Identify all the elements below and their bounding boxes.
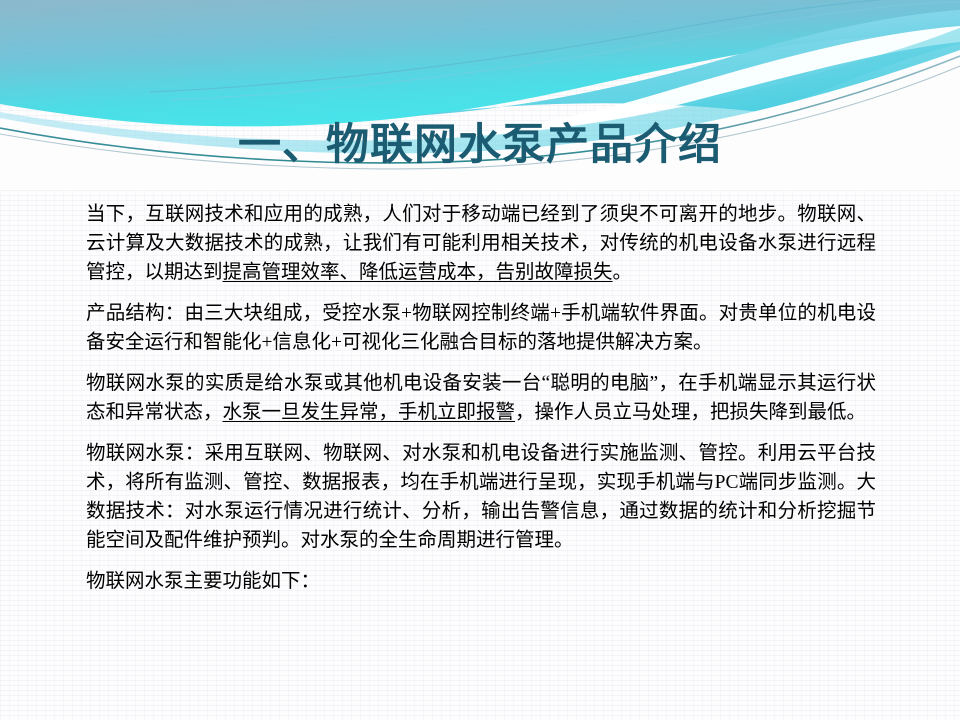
- body-paragraph-2: 产品结构：由三大块组成，受控水泵+物联网控制终端+手机端软件界面。对贵单位的机电…: [86, 299, 876, 357]
- slide-body: 当下，互联网技术和应用的成熟，人们对于移动端已经到了须臾不可离开的地步。物联网、…: [86, 200, 876, 596]
- body-paragraph-4: 物联网水泵：采用互联网、物联网、对水泵和机电设备进行实施监测、管控。利用云平台技…: [86, 439, 876, 555]
- text-segment: 产品结构：由三大块组成，受控水泵+物联网控制终端+手机端软件界面。对贵单位的机电…: [86, 303, 876, 353]
- body-paragraph-1: 当下，互联网技术和应用的成熟，人们对于移动端已经到了须臾不可离开的地步。物联网、…: [86, 200, 876, 287]
- body-paragraph-3: 物联网水泵的实质是给水泵或其他机电设备安装一台“聪明的电脑”，在手机端显示其运行…: [86, 369, 876, 427]
- text-segment: ，操作人员立马处理，把损失降到最低。: [515, 402, 866, 423]
- body-paragraph-5: 物联网水泵主要功能如下：: [86, 567, 876, 596]
- text-segment: 物联网水泵：采用互联网、物联网、对水泵和机电设备进行实施监测、管控。利用云平台技…: [86, 443, 876, 551]
- text-segment: 。: [613, 262, 633, 283]
- text-segment: 物联网水泵主要功能如下：: [86, 571, 320, 592]
- presentation-slide: 一、物联网水泵产品介绍 当下，互联网技术和应用的成熟，人们对于移动端已经到了须臾…: [0, 0, 960, 720]
- text-segment-underlined: 水泵一旦发生异常，手机立即报警: [223, 402, 516, 423]
- page-title: 一、物联网水泵产品介绍: [0, 110, 960, 172]
- text-segment-underlined: 提高管理效率、降低运营成本，告别故障损失: [223, 262, 613, 283]
